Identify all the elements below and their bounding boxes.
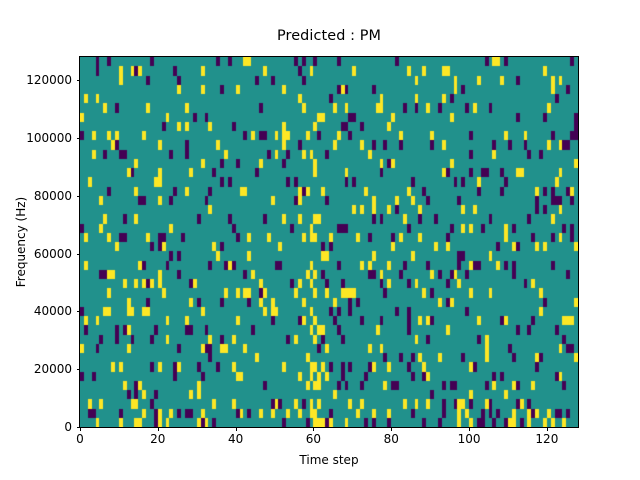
y-tick-label: 80000 (34, 189, 72, 203)
y-tick (77, 196, 81, 197)
y-tick-label: 20000 (34, 362, 72, 376)
x-tick (158, 427, 159, 431)
x-tick (80, 427, 81, 431)
y-tick (77, 311, 81, 312)
x-axis-label: Time step (80, 453, 578, 467)
y-axis-label-wrapper: Frequency (Hz) (14, 57, 28, 427)
y-tick-label: 40000 (34, 304, 72, 318)
page-title: Predicted : PM (80, 28, 578, 44)
x-tick-label: 60 (306, 432, 321, 446)
y-tick (77, 80, 81, 81)
y-tick-label: 100000 (26, 131, 72, 145)
heatmap-axes[interactable] (79, 56, 579, 428)
spectrogram-heatmap[interactable] (80, 57, 578, 427)
x-tick-label: 0 (76, 432, 84, 446)
x-tick (313, 427, 314, 431)
y-tick (77, 138, 81, 139)
x-tick-label: 20 (150, 432, 165, 446)
y-tick-label: 120000 (26, 73, 72, 87)
x-tick-label: 100 (458, 432, 481, 446)
y-axis-label: Frequency (Hz) (14, 197, 28, 288)
y-tick (77, 427, 81, 428)
y-tick-label: 0 (64, 420, 72, 434)
figure-canvas: Predicted : PM 0204060801001200200004000… (0, 0, 640, 480)
x-tick-label: 80 (384, 432, 399, 446)
x-tick (391, 427, 392, 431)
x-tick-label: 40 (228, 432, 243, 446)
y-tick-label: 60000 (34, 247, 72, 261)
x-tick (547, 427, 548, 431)
x-tick-label: 120 (535, 432, 558, 446)
y-tick (77, 369, 81, 370)
y-tick (77, 254, 81, 255)
x-tick (236, 427, 237, 431)
x-tick (469, 427, 470, 431)
